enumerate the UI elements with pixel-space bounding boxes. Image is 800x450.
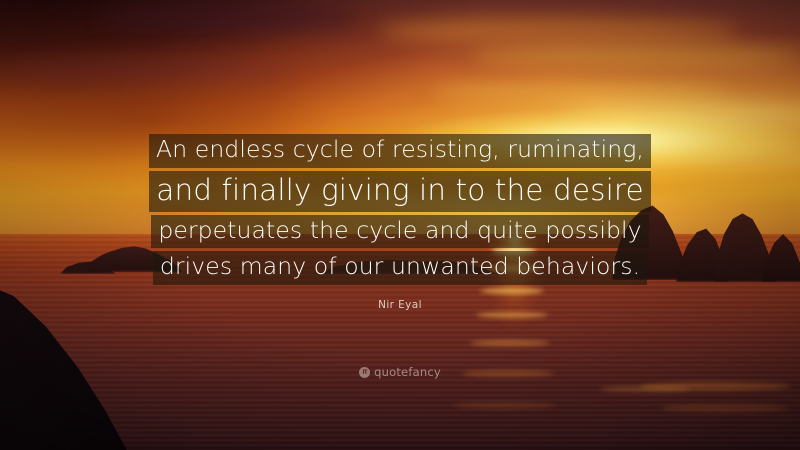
quote-author: Nir Eyal [0,299,800,311]
quotefancy-logo-icon: ff [359,367,370,378]
quotefancy-brand-label: quotefancy [374,365,441,379]
quote-line-text: and finally giving in to the desire [149,171,650,212]
quote-line: drives many of our unwanted behaviors. [0,251,800,285]
quote-wallpaper: An endless cycle of resisting, ruminatin… [0,0,800,450]
quote-line: and finally giving in to the desire [0,171,800,212]
quote-line-text: An endless cycle of resisting, ruminatin… [149,134,651,168]
water-glint [480,288,544,294]
quote-line: An endless cycle of resisting, ruminatin… [0,134,800,168]
water-glint [640,382,790,391]
quote-line-text: perpetuates the cycle and quite possibly [151,215,648,249]
water-glint [660,404,790,412]
quote-text-block: An endless cycle of resisting, ruminatin… [0,134,800,288]
quote-line-text: drives many of our unwanted behaviors. [153,251,647,285]
water-glint [470,340,550,346]
quotefancy-watermark[interactable]: ff quotefancy [0,365,800,379]
quote-line: perpetuates the cycle and quite possibly [0,215,800,249]
water-glint [476,312,548,318]
water-glint [452,402,556,409]
